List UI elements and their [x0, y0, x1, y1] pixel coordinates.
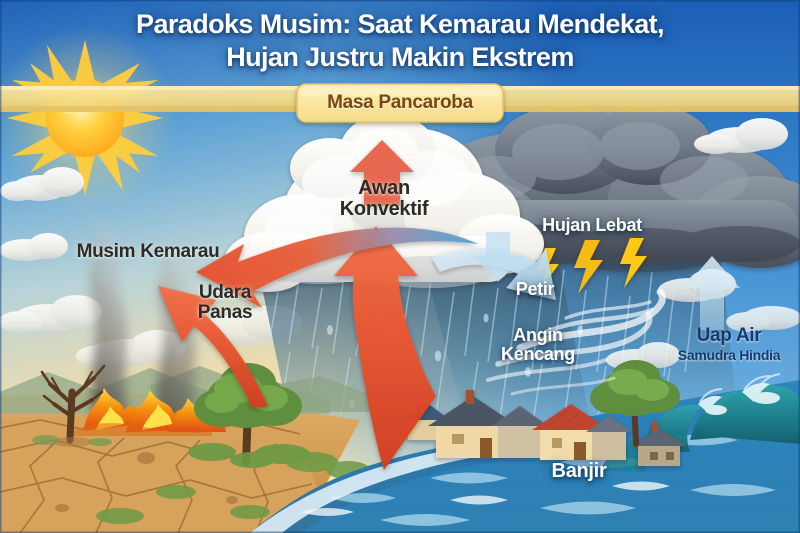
scene-illustration	[0, 0, 800, 533]
infographic-canvas: Paradoks Musim: Saat Kemarau Mendekat, H…	[0, 0, 800, 533]
